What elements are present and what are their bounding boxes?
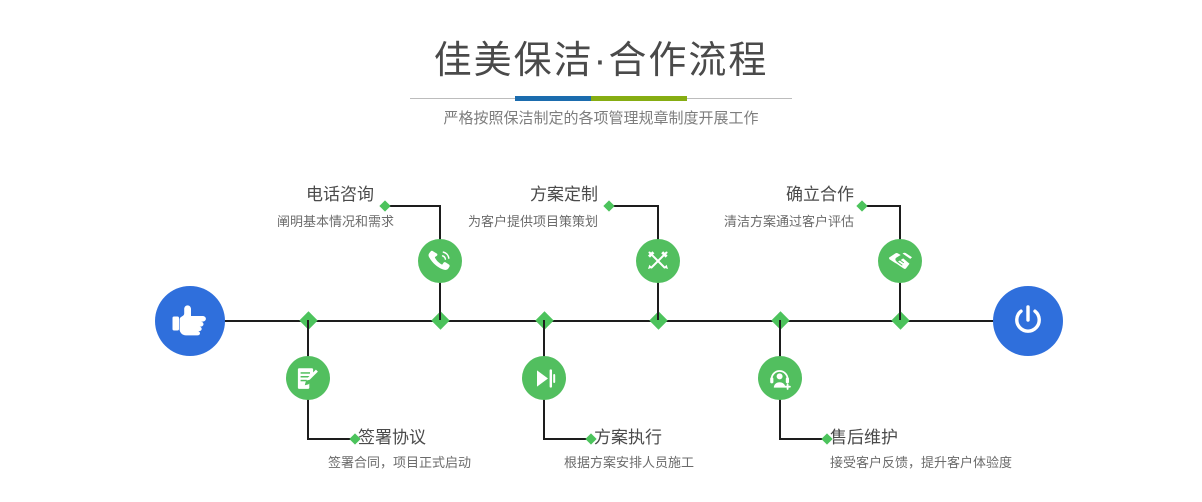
timeline-end-node[interactable] (993, 286, 1063, 356)
power-icon (1010, 303, 1046, 339)
step-title: 电话咨询 (176, 184, 374, 206)
connector-elbow (609, 205, 658, 207)
step-title: 售后维护 (830, 427, 898, 449)
connector-elbow (779, 438, 827, 440)
pencil-ruler-icon (645, 248, 671, 274)
step-icon-document-edit[interactable] (286, 356, 330, 400)
connector-elbow (307, 438, 355, 440)
title-divider (410, 96, 792, 102)
timeline-start-node[interactable] (155, 286, 225, 356)
step-title: 方案定制 (400, 184, 598, 206)
step-title: 方案执行 (594, 427, 662, 449)
document-edit-icon (296, 366, 321, 391)
step-icon-customer-support[interactable] (758, 356, 802, 400)
play-execute-icon (532, 366, 557, 391)
step-icon-play-execute[interactable] (522, 356, 566, 400)
label-marker (603, 200, 614, 211)
step-desc: 签署合同，项目正式启动 (328, 453, 471, 473)
step-desc: 根据方案安排人员施工 (564, 453, 694, 473)
connector-elbow (543, 438, 591, 440)
label-marker (856, 200, 867, 211)
label-marker (379, 200, 390, 211)
step-desc: 阐明基本情况和需求 (156, 212, 394, 232)
step-title: 确立合作 (656, 184, 854, 206)
step-desc: 接受客户反馈，提升客户体验度 (830, 453, 1012, 473)
pointing-hand-icon (171, 304, 209, 338)
phone-call-icon (427, 248, 453, 274)
divider-segment-green (591, 96, 687, 101)
step-desc: 为客户提供项目策策划 (360, 212, 598, 232)
step-icon-pencil-ruler[interactable] (636, 239, 680, 283)
flow-diagram-page: 佳美保洁·合作流程 严格按照保洁制定的各项管理规章制度开展工作 (0, 0, 1202, 502)
step-icon-phone-call[interactable] (418, 239, 462, 283)
page-subtitle: 严格按照保洁制定的各项管理规章制度开展工作 (0, 108, 1202, 130)
handshake-icon (887, 248, 914, 275)
divider-segment-blue (515, 96, 591, 101)
page-title: 佳美保洁·合作流程 (0, 38, 1202, 84)
step-icon-handshake[interactable] (878, 239, 922, 283)
step-desc: 清洁方案通过客户评估 (616, 212, 854, 232)
step-title: 签署协议 (358, 427, 426, 449)
customer-support-icon (768, 366, 793, 391)
